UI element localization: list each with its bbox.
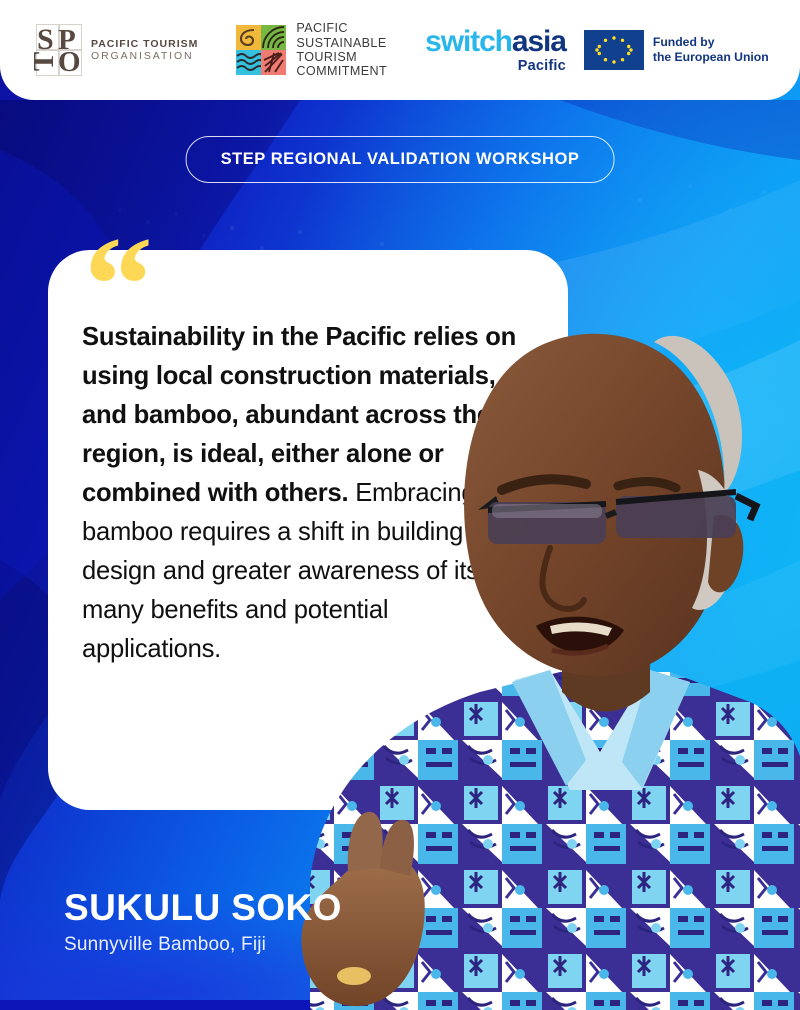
pstc-tile-waves [236,50,261,75]
eu-funding-logo: Funded by the European Union [584,30,769,70]
switchasia-wordmark: switchasia [425,27,566,57]
switchasia-subtitle: Pacific [518,58,566,74]
switchasia-word-switch: switch [425,25,512,58]
spto-line-2: ORGANISATION [91,50,198,62]
pstc-mark-icon [236,25,286,75]
logo-row: S P T O PACIFIC TOURISM ORGANISATION [0,21,800,78]
switchasia-word-asia: asia [512,25,566,58]
workshop-title-badge[interactable]: STEP REGIONAL VALIDATION WORKSHOP [186,136,615,183]
pstc-line-2: SUSTAINABLE [296,36,387,50]
speaker-role: Sunnyville Bamboo, Fiji [64,934,342,956]
eu-flag-icon [584,30,644,70]
spto-letter-o: O [58,48,81,77]
quote-open-icon: “ [84,216,155,354]
spto-letter-t: T [30,52,59,71]
spto-line-1: PACIFIC TOURISM [91,38,198,50]
pstc-logo: PACIFIC SUSTAINABLE TOURISM COMMITMENT [236,21,387,78]
pstc-wordmark: PACIFIC SUSTAINABLE TOURISM COMMITMENT [296,21,387,78]
pstc-tile-spiral [236,25,261,50]
spto-logo: S P T O PACIFIC TOURISM ORGANISATION [36,24,198,76]
speaker-name: SUKULU SOKO [64,889,342,928]
pstc-line-1: PACIFIC [296,21,387,35]
logo-header-band: S P T O PACIFIC TOURISM ORGANISATION [0,0,800,100]
switchasia-logo: switchasia Pacific [425,27,566,74]
spto-mark-icon: S P T O [36,24,82,76]
pstc-line-3: TOURISM [296,50,387,64]
pstc-tile-palm [261,50,286,75]
pstc-line-4: COMMITMENT [296,64,387,78]
spto-letter-s: S [37,25,54,55]
eu-funding-text: Funded by the European Union [653,35,769,65]
pstc-tile-arcs [261,25,286,50]
spto-wordmark: PACIFIC TOURISM ORGANISATION [91,38,198,62]
speaker-info: SUKULU SOKO Sunnyville Bamboo, Fiji [64,889,342,956]
eu-text-line-2: the European Union [653,50,769,65]
eu-text-line-1: Funded by [653,35,769,50]
